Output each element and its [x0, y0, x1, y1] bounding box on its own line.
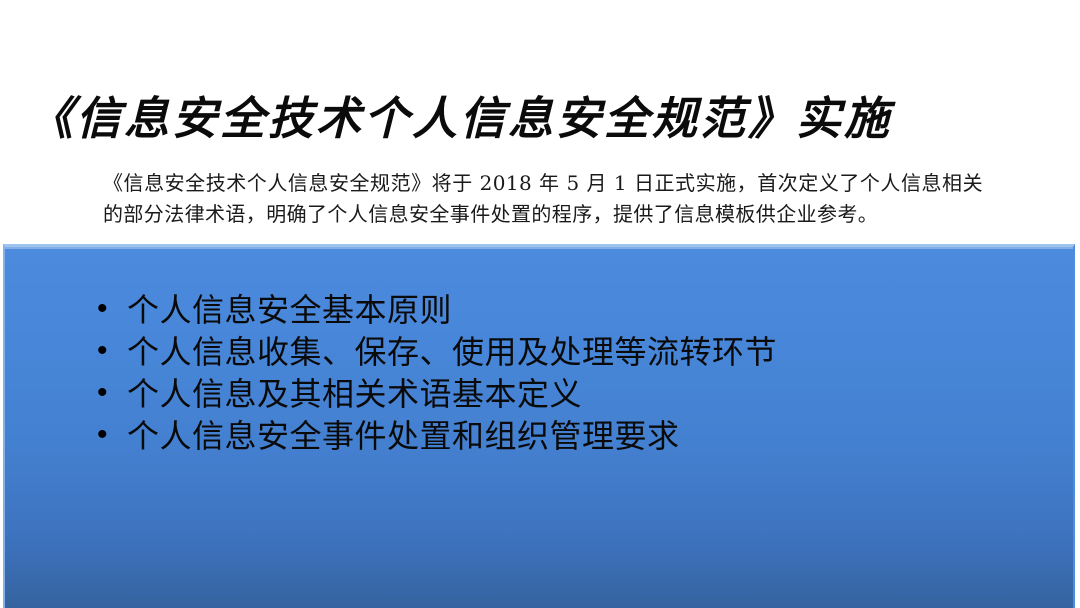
list-item-label: 个人信息安全事件处置和组织管理要求 — [127, 415, 777, 457]
bullet-point-icon: • — [97, 373, 127, 413]
list-item: • 个人信息安全基本原则 — [97, 289, 777, 331]
highlight-content-box: • 个人信息安全基本原则 • 个人信息收集、保存、使用及处理等流转环节 • 个人… — [3, 244, 1075, 608]
intro-paragraph: 《信息安全技术个人信息安全规范》将于 2018 年 5 月 1 日正式实施，首次… — [103, 168, 983, 230]
list-item: • 个人信息收集、保存、使用及处理等流转环节 — [97, 331, 777, 373]
list-item-label: 个人信息收集、保存、使用及处理等流转环节 — [127, 331, 777, 373]
page-title: 《信息安全技术个人信息安全规范》实施 — [0, 92, 920, 146]
list-item-label: 个人信息安全基本原则 — [127, 289, 777, 331]
presentation-slide: 《信息安全技术个人信息安全规范》实施 《信息安全技术个人信息安全规范》将于 20… — [0, 0, 1080, 608]
bullet-list: • 个人信息安全基本原则 • 个人信息收集、保存、使用及处理等流转环节 • 个人… — [97, 289, 777, 457]
list-item-label: 个人信息及其相关术语基本定义 — [127, 373, 777, 415]
bullet-point-icon: • — [97, 415, 127, 455]
bullet-point-icon: • — [97, 331, 127, 371]
list-item: • 个人信息安全事件处置和组织管理要求 — [97, 415, 777, 457]
list-item: • 个人信息及其相关术语基本定义 — [97, 373, 777, 415]
bullet-point-icon: • — [97, 289, 127, 329]
